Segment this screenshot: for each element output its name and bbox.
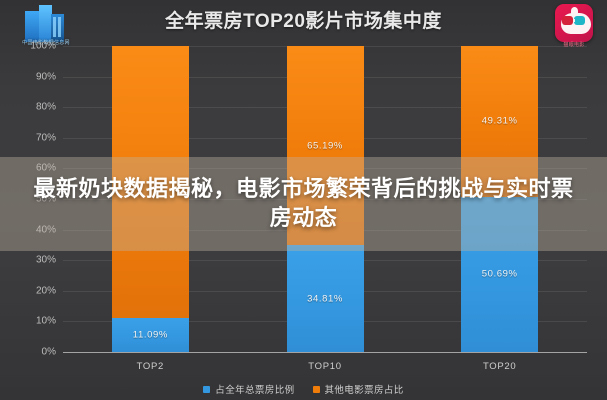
y-axis-tick-label: 10% [36, 316, 56, 327]
x-axis-tick-label: TOP20 [461, 361, 538, 372]
caption-overlay: 最新奶块数据揭秘，电影市场繁荣背后的挑战与实时票房动态 [0, 157, 607, 251]
y-axis-tick-label: 30% [36, 255, 56, 266]
bar-segment[interactable]: 11.09% [112, 318, 189, 352]
glasses-face-icon [555, 4, 593, 42]
legend-item[interactable]: 其他电影票房占比 [313, 382, 404, 396]
chart-title: 全年票房TOP20影片市场集中度 [0, 6, 607, 33]
bar-value-label: 11.09% [112, 330, 189, 341]
y-axis-tick-label: 80% [36, 102, 56, 113]
caption-text: 最新奶块数据揭秘，电影市场繁荣背后的挑战与实时票房动态 [24, 175, 584, 232]
bar-value-label: 49.31% [461, 116, 538, 127]
x-axis-tick-label: TOP10 [287, 361, 364, 372]
legend-swatch [313, 386, 320, 393]
bar-value-label: 65.19% [287, 140, 364, 151]
legend-label: 其他电影票房占比 [325, 382, 404, 396]
maoyan-logo: 猫眼电影 [553, 4, 595, 50]
bar-value-label: 34.81% [287, 293, 364, 304]
y-axis-tick-label: 20% [36, 285, 56, 296]
y-axis-tick-label: 70% [36, 132, 56, 143]
y-axis-tick-label: 100% [30, 41, 56, 52]
gridline [63, 352, 587, 353]
y-axis-tick-label: 0% [42, 347, 56, 358]
x-axis-tick-label: TOP2 [112, 361, 189, 372]
legend-swatch [203, 386, 210, 393]
y-axis-tick-label: 90% [36, 71, 56, 82]
chart-canvas: 中国电影数据信息网 全年票房TOP20影片市场集中度 猫眼电影 0%10%20%… [0, 0, 607, 400]
legend-label: 占全年总票房比例 [215, 382, 294, 396]
bar-value-label: 50.69% [461, 269, 538, 280]
chart-legend: 占全年总票房比例其他电影票房占比 [0, 382, 607, 396]
legend-item[interactable]: 占全年总票房比例 [203, 382, 294, 396]
bar-segment[interactable]: 34.81% [287, 245, 364, 352]
